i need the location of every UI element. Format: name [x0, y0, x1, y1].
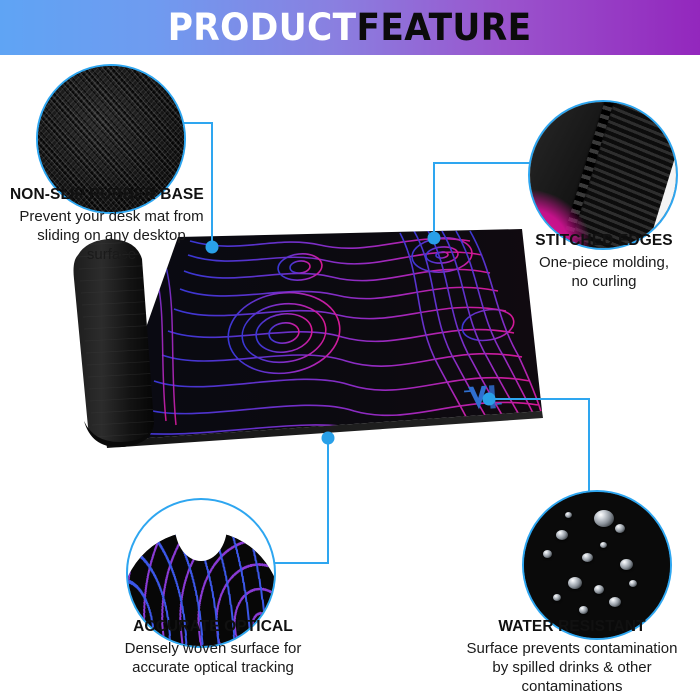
- detail-circle-stitched-edges: [528, 100, 678, 250]
- water-droplet: [600, 542, 607, 548]
- callout-body-line: contaminations: [444, 677, 700, 696]
- callout-title: NON-SLIP RUBBER BASE: [4, 186, 219, 205]
- water-droplet: [620, 559, 633, 570]
- water-droplets-on-surface: [524, 492, 670, 638]
- water-droplet: [594, 510, 614, 527]
- callout-title: STITCHED EDGES: [508, 232, 700, 251]
- water-droplet: [579, 606, 588, 614]
- callout-stitched-edges: STITCHED EDGES One-piece molding, no cur…: [508, 232, 700, 291]
- water-droplet: [568, 577, 582, 589]
- water-droplet: [543, 550, 552, 558]
- callout-body-line: by spilled drinks & other: [444, 658, 700, 677]
- callout-body-line: accurate optical tracking: [88, 658, 338, 677]
- callout-body-line: Surface prevents contamination: [444, 639, 700, 658]
- callout-body-line: surface: [4, 245, 219, 264]
- water-droplet: [556, 530, 568, 540]
- water-droplet: [629, 580, 637, 587]
- callout-body-line: Densely woven surface for: [88, 639, 338, 658]
- callout-body-line: sliding on any desktop: [4, 226, 219, 245]
- connector-stitched: [434, 163, 530, 238]
- callout-body: Densely woven surface for accurate optic…: [88, 639, 338, 677]
- water-droplet: [594, 585, 604, 594]
- water-droplet: [609, 597, 621, 607]
- callout-non-slip-rubber-base: NON-SLIP RUBBER BASE Prevent your desk m…: [4, 186, 219, 264]
- water-droplet: [615, 524, 625, 533]
- callout-body-line: no curling: [508, 272, 700, 291]
- callout-body-line: Prevent your desk mat from: [4, 207, 219, 226]
- water-droplet: [553, 594, 561, 601]
- connector-dot-water: [483, 393, 496, 406]
- product-feature-infographic: PRODUCTFEATURE: [0, 0, 700, 700]
- callout-body: One-piece molding, no curling: [508, 253, 700, 291]
- connector-water: [489, 399, 589, 494]
- callout-accurate-optical: ACCURATE OPTICAL Densely woven surface f…: [88, 618, 338, 677]
- connector-dots: [206, 232, 496, 445]
- stitched-edge-closeup: [530, 102, 676, 248]
- connector-optical: [270, 438, 328, 563]
- callout-body: Surface prevents contamination by spille…: [444, 639, 700, 696]
- callout-title: WATER RESISTANT: [444, 618, 700, 637]
- connector-dot-stitched: [428, 232, 441, 245]
- callout-body: Prevent your desk mat from sliding on an…: [4, 207, 219, 264]
- callout-water-resistant: WATER RESISTANT Surface prevents contami…: [444, 618, 700, 696]
- water-droplet: [565, 512, 572, 518]
- callout-body-line: One-piece molding,: [508, 253, 700, 272]
- connector-dot-optical: [322, 432, 335, 445]
- water-droplet: [582, 553, 593, 562]
- callout-title: ACCURATE OPTICAL: [88, 618, 338, 637]
